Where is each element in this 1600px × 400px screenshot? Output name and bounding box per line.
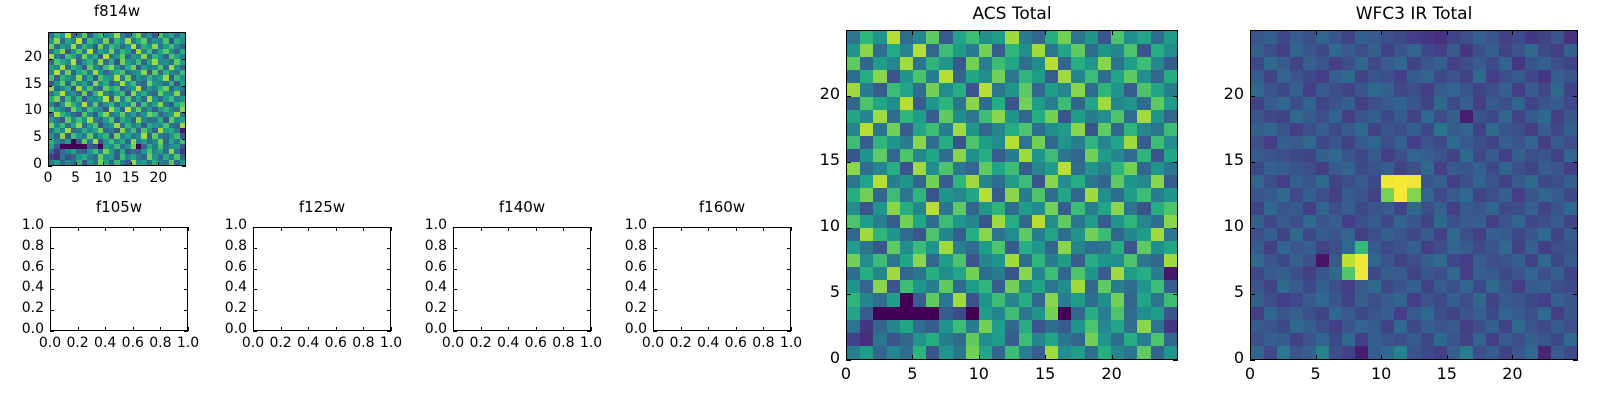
y-tick-right xyxy=(387,269,391,270)
x-tick-label: 10 xyxy=(949,364,1009,383)
x-tick-top xyxy=(1316,30,1317,35)
y-tick-label: 0.4 xyxy=(0,279,44,295)
x-tick xyxy=(158,162,159,166)
y-tick xyxy=(1250,228,1255,229)
y-tick-label: 0.0 xyxy=(197,321,247,337)
y-tick-label: 0.6 xyxy=(397,259,447,275)
x-tick-top xyxy=(363,227,364,231)
y-tick-label: 0.8 xyxy=(197,238,247,254)
x-tick-top xyxy=(912,30,913,35)
y-tick-right xyxy=(184,289,188,290)
panel-acs-total-title: ACS Total xyxy=(846,4,1178,24)
y-tick-label: 5 xyxy=(0,129,42,145)
y-tick-label: 20 xyxy=(0,49,42,65)
x-tick-top xyxy=(979,30,980,35)
x-tick xyxy=(363,327,364,331)
y-tick-label: 1.0 xyxy=(197,217,247,233)
x-tick-top xyxy=(1045,30,1046,35)
x-tick-top xyxy=(563,227,564,231)
y-tick-label: 15 xyxy=(0,76,42,92)
y-tick xyxy=(453,248,457,249)
x-tick-top xyxy=(308,227,309,231)
x-tick-label: 15 xyxy=(1015,364,1075,383)
y-tick-right xyxy=(387,248,391,249)
y-tick-right xyxy=(387,331,391,332)
x-tick xyxy=(912,355,913,360)
x-tick xyxy=(1381,355,1382,360)
y-tick xyxy=(48,166,52,167)
panel-f125w: f125w 0.00.20.40.60.81.00.00.20.40.60.81… xyxy=(203,195,408,400)
y-tick xyxy=(846,162,851,163)
y-tick xyxy=(253,248,257,249)
y-tick xyxy=(48,59,52,60)
y-tick xyxy=(253,289,257,290)
x-tick-top xyxy=(1381,30,1382,35)
y-tick xyxy=(846,228,851,229)
y-tick-label: 0 xyxy=(0,156,42,172)
y-tick-label: 0.8 xyxy=(597,238,647,254)
y-tick-label: 0.0 xyxy=(0,321,44,337)
y-tick-right xyxy=(1173,162,1178,163)
x-tick-top xyxy=(158,32,159,36)
x-tick xyxy=(78,327,79,331)
y-tick-right xyxy=(387,289,391,290)
y-tick-label: 0.2 xyxy=(597,300,647,316)
y-tick xyxy=(846,360,851,361)
x-tick xyxy=(508,327,509,331)
y-tick-right xyxy=(587,331,591,332)
y-tick-right xyxy=(587,310,591,311)
acs-total-heatmap xyxy=(847,31,1177,359)
y-tick-label: 0.4 xyxy=(397,279,447,295)
y-tick-label: 5 xyxy=(1194,282,1244,301)
x-tick-top xyxy=(591,227,592,231)
y-tick-right xyxy=(184,227,188,228)
x-tick xyxy=(1512,355,1513,360)
y-tick-right xyxy=(184,269,188,270)
y-tick-label: 10 xyxy=(790,216,840,235)
y-tick-right xyxy=(182,112,186,113)
x-tick xyxy=(1045,355,1046,360)
x-tick xyxy=(736,327,737,331)
x-tick xyxy=(708,327,709,331)
x-tick-top xyxy=(48,32,49,36)
x-tick-top xyxy=(336,227,337,231)
x-tick xyxy=(160,327,161,331)
y-tick xyxy=(48,112,52,113)
x-tick xyxy=(1316,355,1317,360)
x-tick-label: 20 xyxy=(128,170,188,186)
y-tick xyxy=(48,139,52,140)
y-tick xyxy=(453,227,457,228)
y-tick-label: 0.0 xyxy=(597,321,647,337)
panel-f125w-axes[interactable] xyxy=(253,227,391,331)
panel-wfc3-ir-total-axes[interactable] xyxy=(1250,30,1578,360)
x-tick xyxy=(281,327,282,331)
x-tick-top xyxy=(133,227,134,231)
x-tick xyxy=(105,327,106,331)
x-tick xyxy=(391,327,392,331)
y-tick xyxy=(1250,360,1255,361)
y-tick-right xyxy=(1573,294,1578,295)
y-tick-label: 15 xyxy=(790,150,840,169)
x-tick-top xyxy=(188,227,189,231)
y-tick xyxy=(453,331,457,332)
y-tick-right xyxy=(182,59,186,60)
panel-f814w-title: f814w xyxy=(48,2,186,20)
y-tick-right xyxy=(387,310,391,311)
x-tick xyxy=(188,327,189,331)
y-tick-right xyxy=(1173,360,1178,361)
y-tick-right xyxy=(587,289,591,290)
y-tick-label: 1.0 xyxy=(0,217,44,233)
y-tick-right xyxy=(1573,96,1578,97)
x-tick-top xyxy=(76,32,77,36)
y-tick-right xyxy=(587,248,591,249)
x-tick xyxy=(481,327,482,331)
y-tick xyxy=(653,331,657,332)
y-tick-right xyxy=(787,248,791,249)
y-tick xyxy=(653,310,657,311)
y-tick xyxy=(653,248,657,249)
x-tick xyxy=(563,327,564,331)
y-tick-right xyxy=(787,310,791,311)
x-tick-top xyxy=(103,32,104,36)
panel-wfc3-ir-total-title: WFC3 IR Total xyxy=(1250,4,1578,24)
y-tick xyxy=(48,86,52,87)
x-tick xyxy=(591,327,592,331)
panel-f105w: f105w 0.00.20.40.60.81.00.00.20.40.60.81… xyxy=(0,195,205,400)
wfc3-ir-total-heatmap xyxy=(1251,31,1577,359)
panel-f814w: f814w 0510152005101520 xyxy=(0,0,220,190)
y-tick-label: 1.0 xyxy=(597,217,647,233)
y-tick xyxy=(50,289,54,290)
x-tick xyxy=(133,327,134,331)
y-tick-label: 0.6 xyxy=(597,259,647,275)
y-tick-label: 0.4 xyxy=(597,279,647,295)
y-tick-label: 10 xyxy=(1194,216,1244,235)
y-tick xyxy=(253,331,257,332)
y-tick xyxy=(453,310,457,311)
y-tick xyxy=(1250,294,1255,295)
y-tick-label: 5 xyxy=(790,282,840,301)
y-tick-right xyxy=(184,331,188,332)
y-tick xyxy=(50,269,54,270)
y-tick xyxy=(1250,162,1255,163)
y-tick xyxy=(1250,96,1255,97)
y-tick-right xyxy=(787,331,791,332)
x-tick-top xyxy=(391,227,392,231)
panel-f105w-title: f105w xyxy=(50,198,188,216)
y-tick-label: 0.6 xyxy=(197,259,247,275)
x-tick-label: 5 xyxy=(882,364,942,383)
y-tick xyxy=(50,248,54,249)
y-tick-label: 0.0 xyxy=(397,321,447,337)
f814w-heatmap xyxy=(49,33,185,165)
y-tick-label: 0 xyxy=(790,348,840,367)
x-tick-top xyxy=(1512,30,1513,35)
y-tick xyxy=(453,269,457,270)
x-tick xyxy=(681,327,682,331)
y-tick-right xyxy=(184,248,188,249)
y-tick-right xyxy=(787,269,791,270)
panel-f140w: f140w 0.00.20.40.60.81.00.00.20.40.60.81… xyxy=(403,195,608,400)
y-tick-right xyxy=(182,166,186,167)
panel-acs-total-axes[interactable] xyxy=(846,30,1178,360)
x-tick xyxy=(791,327,792,331)
y-tick xyxy=(253,269,257,270)
panel-f814w-axes[interactable] xyxy=(48,32,186,166)
y-tick-right xyxy=(182,139,186,140)
x-tick-top xyxy=(736,227,737,231)
y-tick-right xyxy=(1173,294,1178,295)
x-tick xyxy=(1112,355,1113,360)
x-tick xyxy=(1447,355,1448,360)
y-tick-label: 20 xyxy=(1194,84,1244,103)
x-tick-top xyxy=(78,227,79,231)
x-tick-label: 20 xyxy=(1082,364,1142,383)
x-tick-top xyxy=(508,227,509,231)
x-tick-top xyxy=(763,227,764,231)
y-tick-right xyxy=(1573,228,1578,229)
y-tick xyxy=(253,310,257,311)
x-tick-top xyxy=(708,227,709,231)
y-tick-label: 20 xyxy=(790,84,840,103)
y-tick-label: 0.4 xyxy=(197,279,247,295)
y-tick-label: 0.2 xyxy=(397,300,447,316)
panel-f140w-title: f140w xyxy=(453,198,591,216)
y-tick-right xyxy=(587,269,591,270)
x-tick-top xyxy=(281,227,282,231)
x-tick-label: 20 xyxy=(1482,364,1542,383)
y-tick xyxy=(453,289,457,290)
x-tick xyxy=(76,162,77,166)
panel-f140w-axes[interactable] xyxy=(453,227,591,331)
x-tick-top xyxy=(536,227,537,231)
y-tick-right xyxy=(1173,96,1178,97)
y-tick xyxy=(653,289,657,290)
y-tick-right xyxy=(387,227,391,228)
y-tick-label: 15 xyxy=(1194,150,1244,169)
y-tick-label: 0.6 xyxy=(0,259,44,275)
panel-f105w-axes[interactable] xyxy=(50,227,188,331)
panel-f160w-axes[interactable] xyxy=(653,227,791,331)
y-tick xyxy=(653,269,657,270)
y-tick xyxy=(653,227,657,228)
x-tick xyxy=(131,162,132,166)
x-tick-label: 10 xyxy=(1351,364,1411,383)
y-tick-label: 0.8 xyxy=(0,238,44,254)
x-tick xyxy=(763,327,764,331)
y-tick xyxy=(50,331,54,332)
panel-f160w: f160w 0.00.20.40.60.81.00.00.20.40.60.81… xyxy=(603,195,808,400)
x-tick-top xyxy=(1112,30,1113,35)
y-tick xyxy=(846,96,851,97)
y-tick-right xyxy=(1173,228,1178,229)
y-tick xyxy=(253,227,257,228)
x-tick-top xyxy=(1447,30,1448,35)
y-tick xyxy=(50,310,54,311)
x-tick-label: 5 xyxy=(1286,364,1346,383)
x-tick-top xyxy=(131,32,132,36)
y-tick-label: 10 xyxy=(0,102,42,118)
y-tick-right xyxy=(184,310,188,311)
y-tick-right xyxy=(182,86,186,87)
x-tick-top xyxy=(846,30,847,35)
x-tick-top xyxy=(105,227,106,231)
panel-wfc3-ir-total: WFC3 IR Total 0510152005101520 xyxy=(1190,0,1600,400)
x-tick xyxy=(336,327,337,331)
y-tick-label: 0.8 xyxy=(397,238,447,254)
y-tick-label: 0.2 xyxy=(197,300,247,316)
y-tick-right xyxy=(1573,162,1578,163)
x-tick-top xyxy=(681,227,682,231)
y-tick-right xyxy=(1573,360,1578,361)
x-tick xyxy=(536,327,537,331)
y-tick-label: 0.2 xyxy=(0,300,44,316)
y-tick-label: 1.0 xyxy=(397,217,447,233)
x-tick xyxy=(103,162,104,166)
y-tick xyxy=(50,227,54,228)
x-tick-label: 15 xyxy=(1417,364,1477,383)
x-tick-top xyxy=(160,227,161,231)
y-tick-right xyxy=(587,227,591,228)
y-tick-label: 0 xyxy=(1194,348,1244,367)
panel-f160w-title: f160w xyxy=(653,198,791,216)
x-tick-top xyxy=(481,227,482,231)
y-tick xyxy=(846,294,851,295)
panel-acs-total: ACS Total 0510152005101520 xyxy=(810,0,1190,400)
x-tick xyxy=(308,327,309,331)
x-tick-top xyxy=(1250,30,1251,35)
panel-f125w-title: f125w xyxy=(253,198,391,216)
x-tick xyxy=(979,355,980,360)
